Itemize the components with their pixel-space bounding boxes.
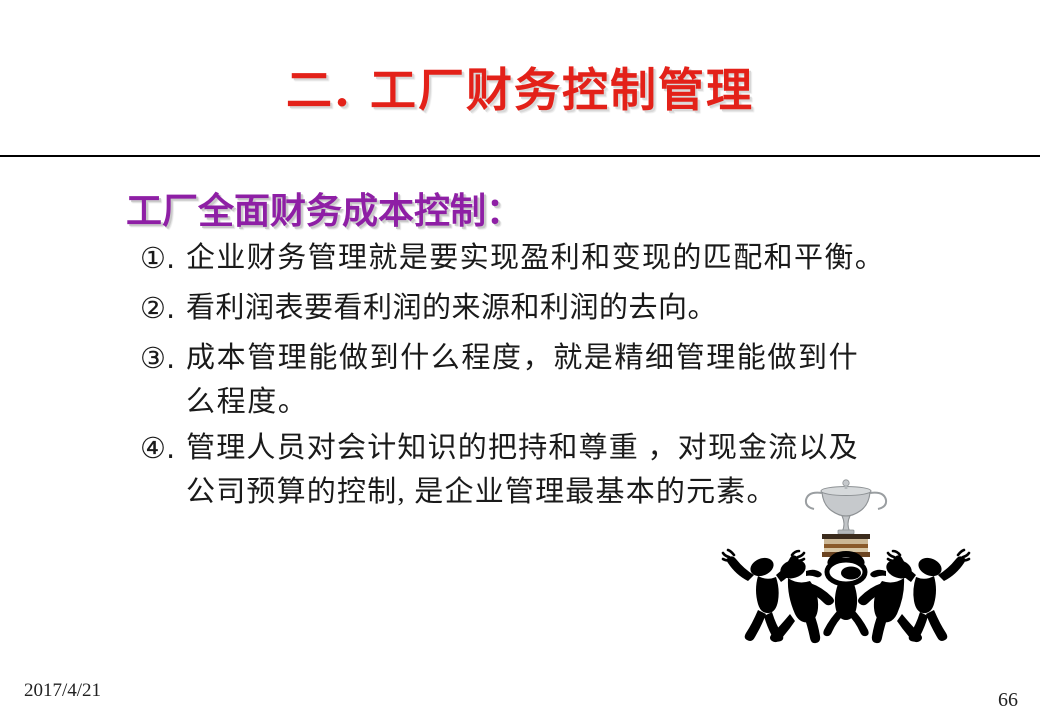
section-subtitle: 工厂全面财务成本控制： bbox=[126, 182, 522, 234]
list-item-text: 企业财务管理就是要实现盈利和变现的匹配和平衡。 bbox=[186, 236, 930, 280]
list-item-line: 成本管理能做到什么程度，就是精细管理能做到什 bbox=[186, 342, 859, 374]
list-item-marker: ③. bbox=[140, 336, 186, 380]
list-item-line: 管理人员对会计知识的把持和尊重 ，对现金流以及 bbox=[186, 432, 859, 464]
trophy-icon bbox=[806, 480, 886, 557]
body-content-list: ①. 企业财务管理就是要实现盈利和变现的匹配和平衡。 ②. 看利润表要看利润的来… bbox=[140, 236, 930, 516]
footer-date: 2017/4/21 bbox=[24, 680, 101, 702]
title-area: 二. 工厂财务控制管理 bbox=[0, 62, 1040, 120]
list-item-text: 看利润表要看利润的来源和利润的去向。 bbox=[186, 286, 930, 330]
list-item: ②. 看利润表要看利润的来源和利润的去向。 bbox=[140, 286, 930, 330]
list-item: ①. 企业财务管理就是要实现盈利和变现的匹配和平衡。 bbox=[140, 236, 930, 280]
list-item-text: 成本管理能做到什么程度，就是精细管理能做到什 么程度。 bbox=[186, 336, 930, 424]
celebration-clipart bbox=[718, 476, 988, 648]
page-number: 66 bbox=[998, 689, 1018, 712]
list-item-line: 看利润表要看利润的来源和利润的去向。 bbox=[186, 292, 717, 324]
list-item-line: 企业财务管理就是要实现盈利和变现的匹配和平衡。 bbox=[186, 242, 885, 274]
list-item-marker: ②. bbox=[140, 286, 186, 330]
list-item: ③. 成本管理能做到什么程度，就是精细管理能做到什 么程度。 bbox=[140, 336, 930, 424]
list-item-marker: ④. bbox=[140, 426, 186, 470]
header-divider bbox=[0, 155, 1040, 157]
slide-canvas: 二. 工厂财务控制管理 工厂全面财务成本控制： ①. 企业财务管理就是要实现盈利… bbox=[0, 0, 1040, 720]
list-item-line: 么程度。 bbox=[186, 380, 930, 424]
figure-center bbox=[823, 551, 868, 636]
list-item-marker: ①. bbox=[140, 236, 186, 280]
page-title: 二. 工厂财务控制管理 bbox=[286, 62, 754, 120]
